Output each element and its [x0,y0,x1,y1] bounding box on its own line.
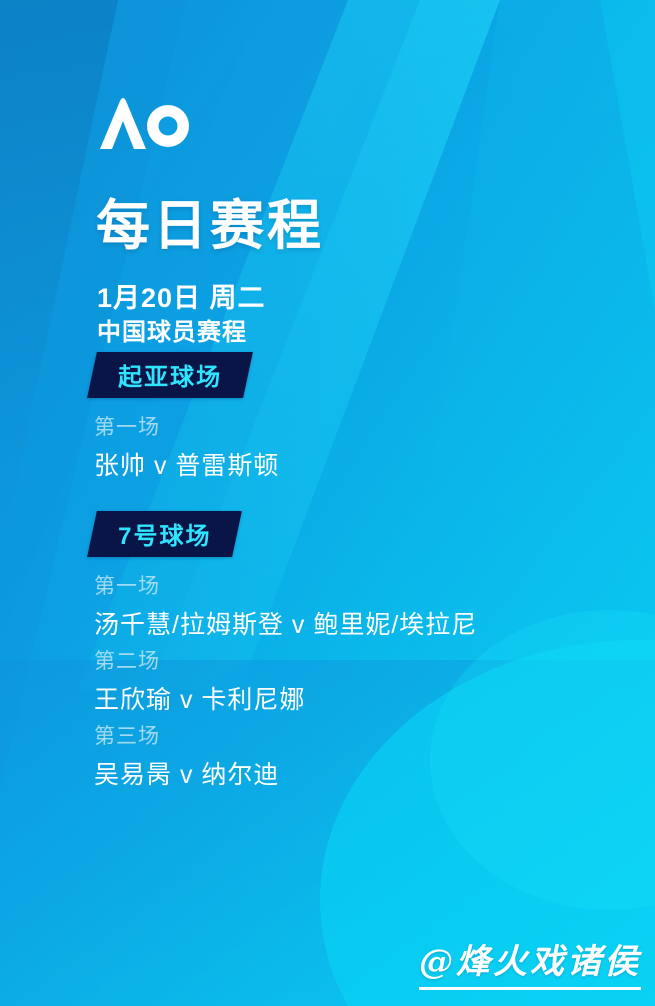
match-players: 张帅 v 普雷斯顿 [94,454,655,479]
match-label: 第一场 [94,576,655,597]
match-label: 第二场 [94,651,655,672]
match-label: 第一场 [94,417,655,438]
schedule-subtitle: 中国球员赛程 [97,312,247,347]
court-name: 起亚球场 [118,357,222,392]
match-players: 王欣瑜 v 卡利尼娜 [94,688,655,713]
poster-canvas: 每日赛程 1月20日 周二 中国球员赛程 起亚球场 第一场 张帅 v 普雷斯顿 [0,0,655,1006]
match-row: 第二场 王欣瑜 v 卡利尼娜 [94,651,655,713]
watermark: @烽火戏诸侯 [419,934,641,990]
court-badge-wrapper: 起亚球场 [92,352,248,398]
court-badge-wrapper: 7号球场 [92,511,237,557]
match-players: 吴易昺 v 纳尔迪 [94,763,655,788]
match-row: 第一场 汤千慧/拉姆斯登 v 鲍里妮/埃拉尼 [94,576,655,638]
match-label: 第三场 [94,726,655,747]
section-spacer [0,479,655,511]
match-row: 第三场 吴易昺 v 纳尔迪 [94,726,655,788]
court-badge: 起亚球场 [87,352,253,398]
match-players: 汤千慧/拉姆斯登 v 鲍里妮/埃拉尼 [94,613,655,638]
court-section: 起亚球场 第一场 张帅 v 普雷斯顿 [0,352,655,479]
court-section: 7号球场 第一场 汤千慧/拉姆斯登 v 鲍里妮/埃拉尼 第二场 王欣瑜 v 卡利… [0,511,655,788]
court-badge: 7号球场 [87,511,242,557]
watermark-handle: @烽火戏诸侯 [419,934,641,990]
page-title: 每日赛程 [96,198,324,255]
schedule-sections: 起亚球场 第一场 张帅 v 普雷斯顿 7号球场 第一场 汤千慧 [0,352,655,788]
schedule-date: 1月20日 周二 [97,276,266,315]
court-name: 7号球场 [118,516,211,551]
match-row: 第一场 张帅 v 普雷斯顿 [94,417,655,479]
